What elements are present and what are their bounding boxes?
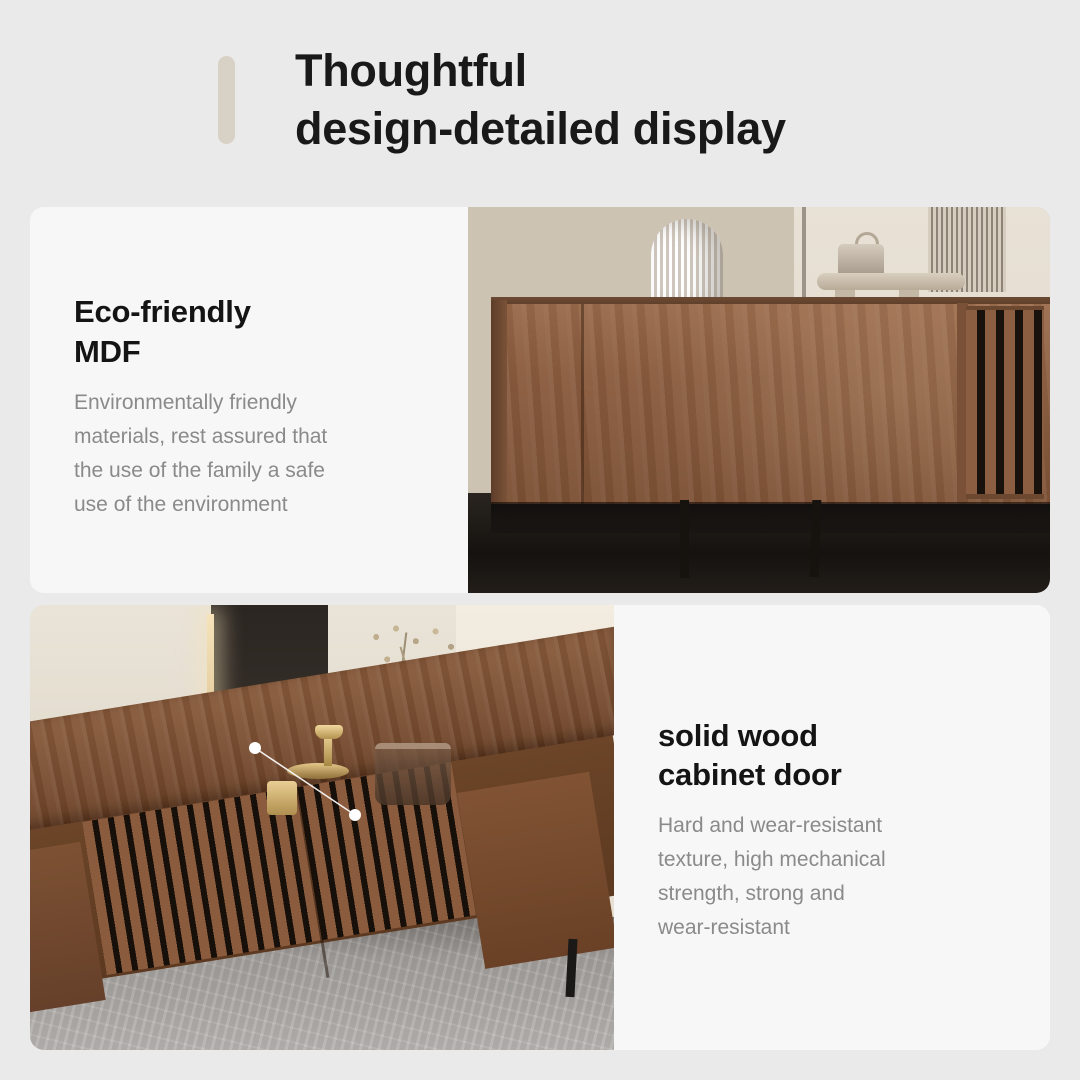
cabinet-door-seam xyxy=(581,304,584,505)
card-title: Eco-friendly MDF xyxy=(74,292,424,371)
feature-card-solid-wood-cabinet-door[interactable]: Spacious countertop 15.74" solid wood ca… xyxy=(30,605,1050,1050)
product-feature-page: Thoughtful design-detailed display Eco-f… xyxy=(0,0,1080,1080)
header-inner: Thoughtful design-detailed display xyxy=(218,42,786,157)
feature-card-eco-friendly-mdf[interactable]: Eco-friendly MDF Environmentally friendl… xyxy=(30,207,1050,593)
candlestick-cup-decor xyxy=(315,725,343,739)
accent-bar-icon xyxy=(218,56,235,144)
page-title: Thoughtful design-detailed display xyxy=(295,42,786,157)
cabinet-left-edge xyxy=(491,300,507,505)
card-inner: Eco-friendly MDF Environmentally friendl… xyxy=(30,207,1050,593)
card-title: solid wood cabinet door xyxy=(658,716,1006,795)
scene-sideboard xyxy=(468,207,1050,593)
card-image-sideboard xyxy=(468,207,1050,593)
slatted-door xyxy=(966,306,1045,499)
round-tray-decor xyxy=(817,273,965,290)
brass-bowl-decor xyxy=(287,763,349,779)
card-text-pane: Eco-friendly MDF Environmentally friendl… xyxy=(30,207,468,593)
card-body: Environmentally friendly materials, rest… xyxy=(74,386,424,522)
console-door-right xyxy=(457,772,614,969)
smoked-glass-vessel-decor xyxy=(375,743,451,805)
brass-candle-holder-decor xyxy=(267,781,297,815)
candlestick-stem-decor xyxy=(324,736,332,766)
card-text-pane: solid wood cabinet door Hard and wear-re… xyxy=(614,605,1050,1050)
scene-console: Spacious countertop 15.74" xyxy=(30,605,614,1050)
page-header: Thoughtful design-detailed display xyxy=(0,0,1080,200)
card-body: Hard and wear-resistant texture, high me… xyxy=(658,809,1006,945)
card-image-console: Spacious countertop 15.74" xyxy=(30,605,614,1050)
cabinet-leg-left xyxy=(680,500,689,577)
cabinet-shadow xyxy=(491,502,1050,533)
card-inner: Spacious countertop 15.74" solid wood ca… xyxy=(30,605,1050,1050)
